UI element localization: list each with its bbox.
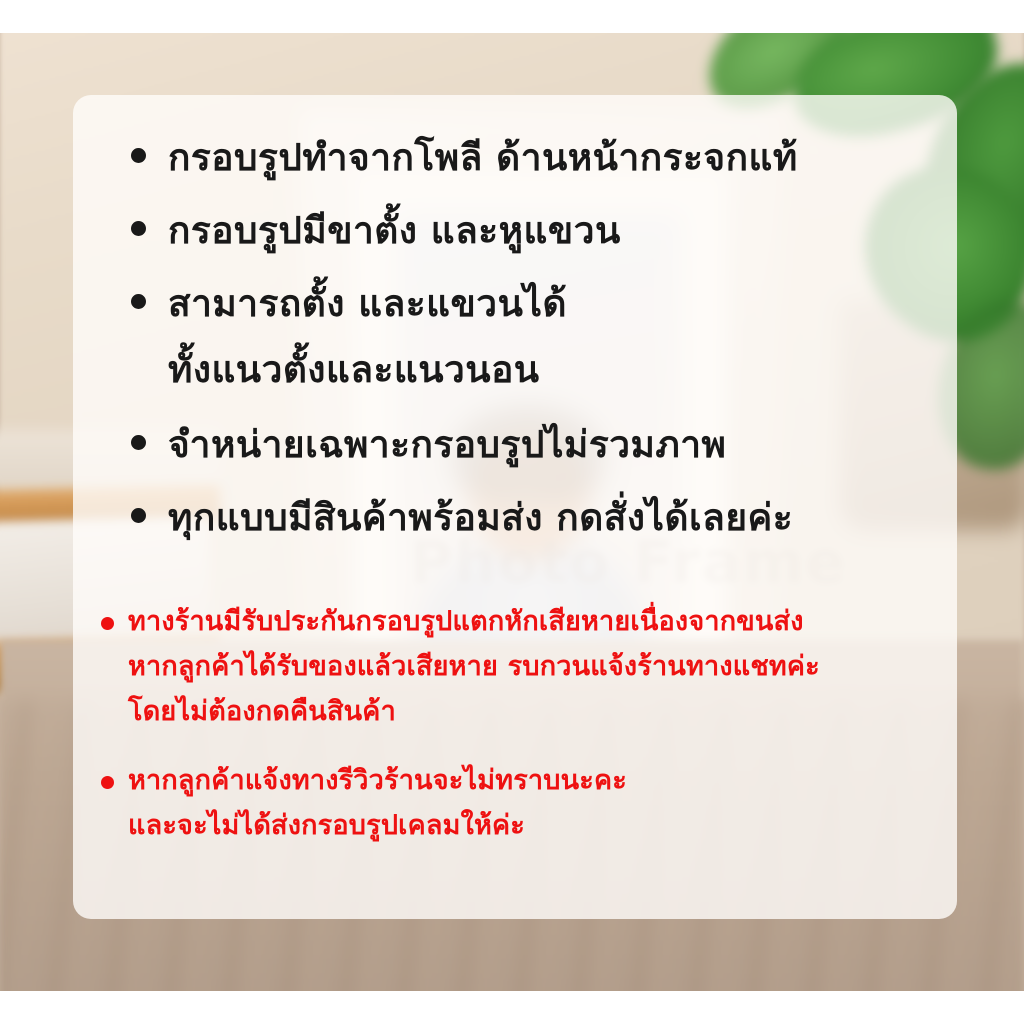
policy-text: โดยไม่ต้องกดคืนสินค้า: [128, 698, 396, 725]
bullet-icon: [131, 508, 146, 523]
list-item: ทุกแบบมีสินค้าพร้อมส่ง กดสั่งได้เลยค่ะ: [131, 499, 793, 536]
screenshot-stage: Photo Frame กรอบรูปทำจากโพลี ด้านหน้ากระ…: [0, 0, 1024, 1024]
list-item: กรอบรูปทำจากโพลี ด้านหน้ากระจกแท้: [131, 139, 798, 176]
feature-text: ทุกแบบมีสินค้าพร้อมส่ง กดสั่งได้เลยค่ะ: [168, 499, 793, 536]
letterbox-band-bottom: [0, 991, 1024, 1024]
list-item-continuation: โดยไม่ต้องกดคืนสินค้า: [128, 698, 396, 725]
feature-text: กรอบรูปทำจากโพลี ด้านหน้ากระจกแท้: [168, 139, 798, 176]
list-item-continuation: ทั้งแนวตั้งและแนวนอน: [168, 351, 540, 388]
info-card: กรอบรูปทำจากโพลี ด้านหน้ากระจกแท้ กรอบรู…: [73, 95, 957, 919]
bullet-icon: [131, 294, 146, 309]
list-item: กรอบรูปมีขาตั้ง และหูแขวน: [131, 212, 621, 249]
letterbox-band-top: [0, 0, 1024, 33]
feature-text: กรอบรูปมีขาตั้ง และหูแขวน: [168, 212, 621, 249]
bullet-icon: [101, 776, 114, 789]
list-item: หากลูกค้าแจ้งทางรีวิวร้านจะไม่ทราบนะคะ: [101, 767, 627, 794]
list-item-continuation: หากลูกค้าได้รับของแล้วเสียหาย รบกวนแจ้งร…: [128, 653, 820, 680]
policy-text: และจะไม่ได้ส่งกรอบรูปเคลมให้ค่ะ: [128, 812, 525, 839]
list-item-continuation: และจะไม่ได้ส่งกรอบรูปเคลมให้ค่ะ: [128, 812, 525, 839]
bullet-icon: [131, 148, 146, 163]
feature-text: สามารถตั้ง และแขวนได้: [168, 285, 567, 322]
policy-text: หากลูกค้าแจ้งทางรีวิวร้านจะไม่ทราบนะคะ: [128, 767, 627, 794]
feature-text: จำหน่ายเฉพาะกรอบรูปไม่รวมภาพ: [168, 426, 726, 463]
bullet-icon: [131, 435, 146, 450]
list-item: สามารถตั้ง และแขวนได้: [131, 285, 567, 322]
policy-text: ทางร้านมีรับประกันกรอบรูปแตกหักเสียหายเน…: [128, 608, 804, 635]
policy-text: หากลูกค้าได้รับของแล้วเสียหาย รบกวนแจ้งร…: [128, 653, 820, 680]
feature-text: ทั้งแนวตั้งและแนวนอน: [168, 351, 540, 388]
bullet-icon: [131, 221, 146, 236]
list-item: จำหน่ายเฉพาะกรอบรูปไม่รวมภาพ: [131, 426, 726, 463]
bullet-icon: [101, 617, 114, 630]
list-item: ทางร้านมีรับประกันกรอบรูปแตกหักเสียหายเน…: [101, 608, 804, 635]
